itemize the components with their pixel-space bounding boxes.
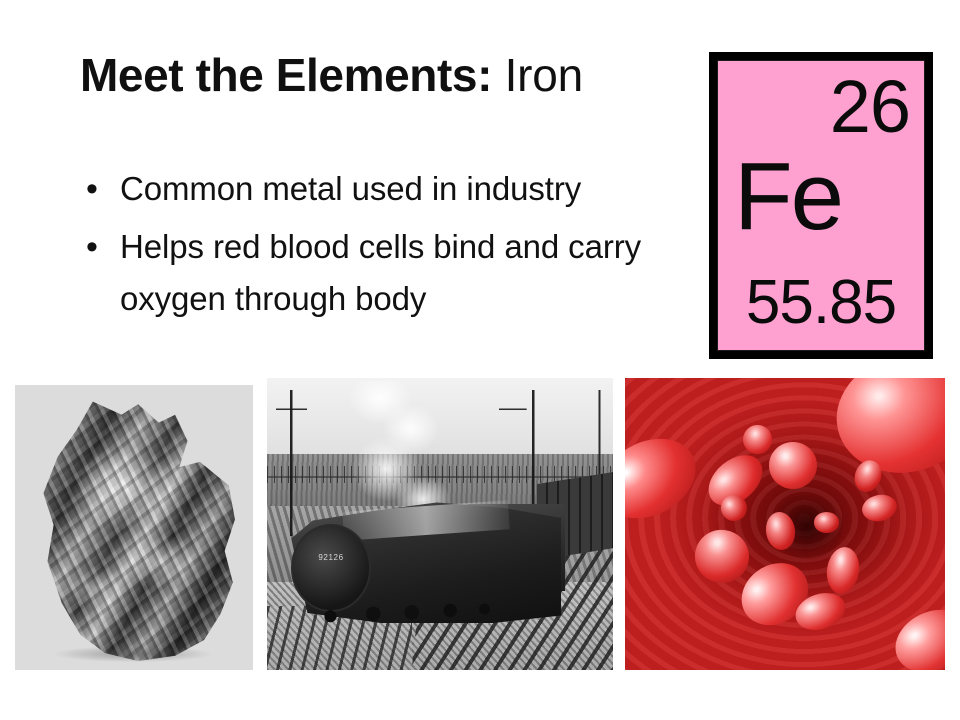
train-number-plate: 92126 [303,547,358,567]
red-blood-cell [769,442,817,489]
bullet-marker-icon: • [82,221,120,273]
list-item: • Helps red blood cells bind and carry o… [82,221,692,325]
image-iron-nugget [15,385,253,670]
page-title: Meet the Elements: Iron [80,48,700,114]
slide-canvas: Meet the Elements: Iron • Common metal u… [0,0,960,720]
red-blood-cell [814,512,840,532]
bullet-list: • Common metal used in industry • Helps … [82,163,692,331]
list-item-text: Helps red blood cells bind and carry oxy… [120,221,692,325]
element-tile-face: 26 Fe 55.85 [717,60,925,351]
image-steam-train: 92126 [267,378,613,670]
element-symbol: Fe [734,141,842,253]
list-item: • Common metal used in industry [82,163,692,215]
list-item-text: Common metal used in industry [120,163,692,215]
periodic-element-tile: 26 Fe 55.85 [709,52,933,359]
train-wheels [309,588,524,635]
image-blood-cells [625,378,945,670]
iron-nugget-shadow [55,646,211,662]
page-title-light: Iron [492,49,583,101]
atomic-number: 26 [830,63,910,151]
bullet-marker-icon: • [82,163,120,215]
atomic-mass: 55.85 [718,268,924,338]
page-title-bold: Meet the Elements: [80,49,492,101]
iron-nugget-facets [31,399,237,661]
